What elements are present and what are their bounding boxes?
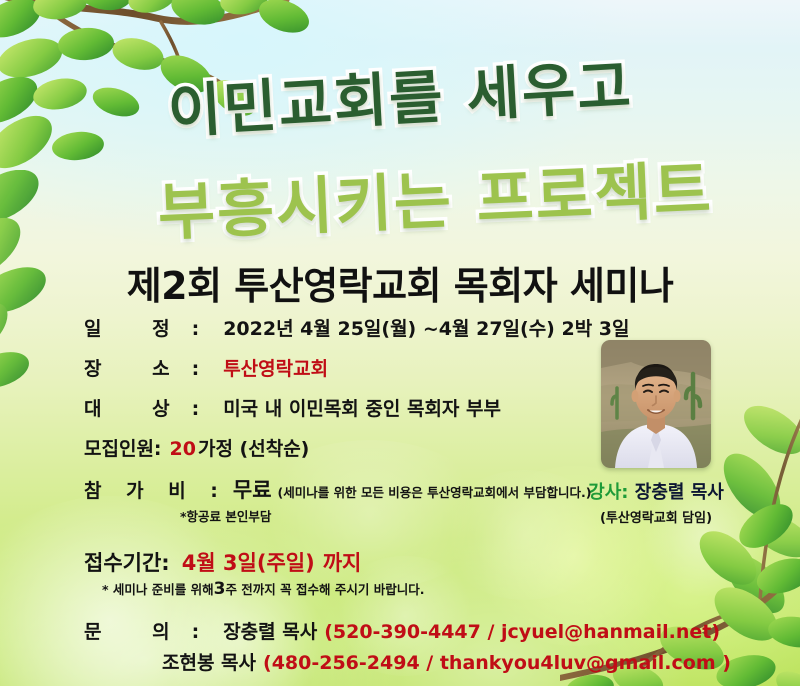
speaker-affiliation: (투산영락교회 담임) [586,507,726,526]
inquiry-row-1: 문 의: 장충렬 목사 (520-390-4447 / jcyuel@hanma… [84,617,604,644]
registration-note-weeks: 3 [214,579,226,599]
detail-label-fee: 참 가 비 : [84,476,227,503]
detail-row-registration: 접수기간: 4월 3일(주일) 까지 [84,547,604,577]
inquiry-person-1-name: 장충렬 목사 [223,617,317,644]
inquiry-person-1-contact[interactable]: (520-390-4447 / jcyuel@hanmail.net) [324,621,720,643]
detail-label-registration: 접수기간: [84,547,170,577]
poster-subtitle: 제2회 투산영락교회 목회자 세미나 [0,255,800,310]
detail-value-capacity: 가정 (선착순) [198,434,309,461]
detail-label-capacity: 모집인원: [84,434,162,461]
detail-fee-note-2: *항공료 본인부담 [180,506,604,525]
headline-line-1: 이민교회를 세우고 [0,30,800,159]
detail-row-audience: 대 상: 미국 내 이민목회 중인 목회자 부부 [84,394,604,421]
detail-label-location: 장 소: [84,354,221,381]
speaker-block: 강사: 장충렬 목사 (투산영락교회 담임) [586,340,726,526]
speaker-photo [601,340,711,468]
headline-line-2: 부흥시키는 프로젝트 [0,135,800,258]
detail-row-location: 장 소: 투산영락교회 [84,354,604,381]
poster-canvas: 이민교회를 세우고 부흥시키는 프로젝트 제2회 투산영락교회 목회자 세미나 [0,0,800,686]
speaker-name-line: 강사: 장충렬 목사 [586,478,726,504]
detail-row-schedule: 일 정: 2022년 4월 25일(월) ~4월 27일(수) 2박 3일 [84,314,604,341]
inquiry-block: 문 의: 장충렬 목사 (520-390-4447 / jcyuel@hanma… [84,617,604,675]
speaker-portrait-image [601,340,711,468]
detail-row-fee: 참 가 비 : 무료 (세미나를 위한 모든 비용은 투산영락교회에서 부담합니… [84,474,604,504]
inquiry-person-2-name: 조현봉 목사 [162,648,256,675]
detail-value-location: 투산영락교회 [223,354,328,381]
inquiry-label: 문 의: [84,617,221,644]
inquiry-row-2: 조현봉 목사 (480-256-2494 / thankyou4luv@gmai… [160,648,604,675]
detail-value-capacity-number: 20 [170,438,196,460]
detail-value-fee: 무료 [233,474,272,504]
detail-value-registration-suffix: 까지 [323,547,362,577]
detail-value-registration-date: 4월 3일(주일) [182,547,315,577]
details-block: 일 정: 2022년 4월 25일(월) ~4월 27일(수) 2박 3일 장 … [84,314,604,675]
detail-label-audience: 대 상: [84,394,221,421]
detail-label-schedule: 일 정: [84,314,221,341]
registration-note-a: * 세미나 준비를 위해 [102,582,214,597]
detail-fee-note: (세미나를 위한 모든 비용은 투산영락교회에서 부담합니다.) [278,482,592,501]
speaker-name: 장충렬 목사 [635,482,724,503]
detail-value-audience: 미국 내 이민목회 중인 목회자 부부 [223,394,501,421]
registration-note-c: 주 전까지 꼭 접수해 주시기 바랍니다. [225,582,424,597]
detail-row-capacity: 모집인원: 20 가정 (선착순) [84,434,604,461]
inquiry-person-2-contact[interactable]: (480-256-2494 / thankyou4luv@gmail.com ) [263,652,731,674]
detail-registration-note: * 세미나 준비를 위해3주 전까지 꼭 접수해 주시기 바랍니다. [102,579,604,599]
detail-value-schedule: 2022년 4월 25일(월) ~4월 27일(수) 2박 3일 [223,314,629,341]
